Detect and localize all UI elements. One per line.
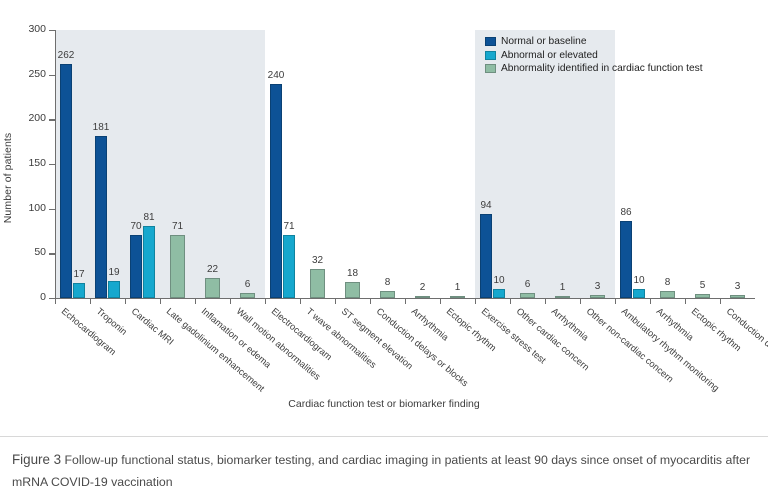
bar-value-label: 10: [493, 275, 504, 286]
bar-value-label: 3: [735, 281, 741, 292]
x-axis-tick: [265, 299, 266, 304]
x-axis-tick: [195, 299, 196, 304]
figure-container: Number of patients 262171811970817122624…: [0, 0, 768, 499]
bar-chart: Number of patients 262171811970817122624…: [0, 0, 768, 432]
y-axis-tick-label: 250: [6, 68, 46, 80]
y-axis-tick-label: 100: [6, 202, 46, 214]
x-axis-tick: [510, 299, 511, 304]
bar-abnormal-or-elevated: [73, 283, 85, 298]
x-axis-tick: [300, 299, 301, 304]
bar-abnormal-or-elevated: [283, 235, 295, 298]
x-axis-tick: [160, 299, 161, 304]
bar-value-label: 19: [108, 267, 119, 278]
bar-value-label: 6: [525, 279, 531, 290]
bar-value-label: 3: [595, 281, 601, 292]
y-axis-tick: [49, 119, 55, 120]
caption-divider: [0, 436, 768, 437]
figure-number: Figure 3: [12, 452, 61, 467]
x-axis-tick: [615, 299, 616, 304]
bar-value-label: 81: [143, 212, 154, 223]
x-axis-tick: [125, 299, 126, 304]
bar-abnormality-identified: [380, 291, 395, 298]
bar-abnormal-or-elevated: [493, 289, 505, 298]
legend-swatch-green: [485, 64, 496, 73]
bar-value-label: 86: [620, 207, 631, 218]
y-axis-tick-label: 200: [6, 112, 46, 124]
x-axis-tick: [580, 299, 581, 304]
bar-value-label: 32: [312, 255, 323, 266]
bar-abnormal-or-elevated: [108, 281, 120, 298]
bar-value-label: 18: [347, 268, 358, 279]
x-axis-tick: [55, 299, 56, 304]
bar-normal-or-baseline: [130, 235, 142, 298]
shaded-band-1: [55, 30, 265, 298]
x-axis-title: Cardiac function test or biomarker findi…: [0, 398, 768, 410]
x-axis-tick-label: Electrocardiogram: [269, 306, 333, 362]
bar-value-label: 2: [420, 282, 426, 293]
bar-value-label: 240: [268, 70, 285, 81]
y-axis-tick: [49, 75, 55, 76]
bar-abnormal-or-elevated: [633, 289, 645, 298]
y-axis-line: [55, 30, 56, 298]
x-axis-tick-label: Troponin: [94, 306, 128, 337]
legend-label: Abnormal or elevated: [501, 50, 598, 61]
x-axis-tick: [720, 299, 721, 304]
y-axis-title: Number of patients: [2, 108, 14, 248]
bar-normal-or-baseline: [620, 221, 632, 298]
bar-value-label: 17: [73, 269, 84, 280]
y-axis-tick-label: 0: [6, 291, 46, 303]
bar-abnormality-identified: [660, 291, 675, 298]
bar-normal-or-baseline: [270, 84, 282, 298]
x-axis-tick: [335, 299, 336, 304]
bar-value-label: 6: [245, 279, 251, 290]
bar-value-label: 10: [633, 275, 644, 286]
bar-normal-or-baseline: [480, 214, 492, 298]
bar-value-label: 71: [283, 221, 294, 232]
legend-swatch-cyan: [485, 51, 496, 60]
y-axis-tick-label: 300: [6, 23, 46, 35]
bar-value-label: 70: [130, 221, 141, 232]
figure-caption-text: Follow-up functional status, biomarker t…: [12, 453, 750, 489]
bar-abnormality-identified: [310, 269, 325, 298]
bar-normal-or-baseline: [60, 64, 72, 298]
bar-value-label: 262: [58, 50, 75, 61]
x-axis-tick: [475, 299, 476, 304]
x-axis-tick-label: Exercise stress test: [479, 306, 547, 365]
y-axis-tick: [49, 30, 55, 31]
legend-item-cyan: Abnormal or elevated: [485, 50, 703, 61]
y-axis-tick-label: 50: [6, 246, 46, 258]
bar-value-label: 94: [480, 200, 491, 211]
x-axis-tick: [405, 299, 406, 304]
bar-value-label: 1: [560, 282, 566, 293]
bar-abnormality-identified: [345, 282, 360, 298]
bar-value-label: 8: [385, 277, 391, 288]
legend-label: Normal or baseline: [501, 36, 587, 47]
bar-abnormal-or-elevated: [143, 226, 155, 298]
x-axis-tick: [685, 299, 686, 304]
y-axis-tick: [49, 164, 55, 165]
bar-value-label: 181: [93, 122, 110, 133]
legend-label: Abnormality identified in cardiac functi…: [501, 63, 703, 74]
bar-value-label: 8: [665, 277, 671, 288]
legend-item-green: Abnormality identified in cardiac functi…: [485, 63, 703, 74]
bar-abnormality-identified: [170, 235, 185, 298]
y-axis-tick: [49, 209, 55, 210]
x-axis-tick: [230, 299, 231, 304]
bar-value-label: 5: [700, 280, 706, 291]
legend-item-navy: Normal or baseline: [485, 36, 703, 47]
bar-abnormality-identified: [205, 278, 220, 298]
y-axis-tick: [49, 253, 55, 254]
x-axis-tick: [545, 299, 546, 304]
figure-caption: Figure 3 Follow-up functional status, bi…: [12, 448, 756, 493]
chart-legend: Normal or baselineAbnormal or elevatedAb…: [485, 36, 703, 77]
bar-value-label: 71: [172, 221, 183, 232]
legend-swatch-navy: [485, 37, 496, 46]
x-axis-tick: [650, 299, 651, 304]
y-axis-tick-label: 150: [6, 157, 46, 169]
x-axis-tick: [370, 299, 371, 304]
x-axis-tick: [440, 299, 441, 304]
bar-value-label: 1: [455, 282, 461, 293]
x-axis-tick: [90, 299, 91, 304]
bar-normal-or-baseline: [95, 136, 107, 298]
bar-value-label: 22: [207, 264, 218, 275]
